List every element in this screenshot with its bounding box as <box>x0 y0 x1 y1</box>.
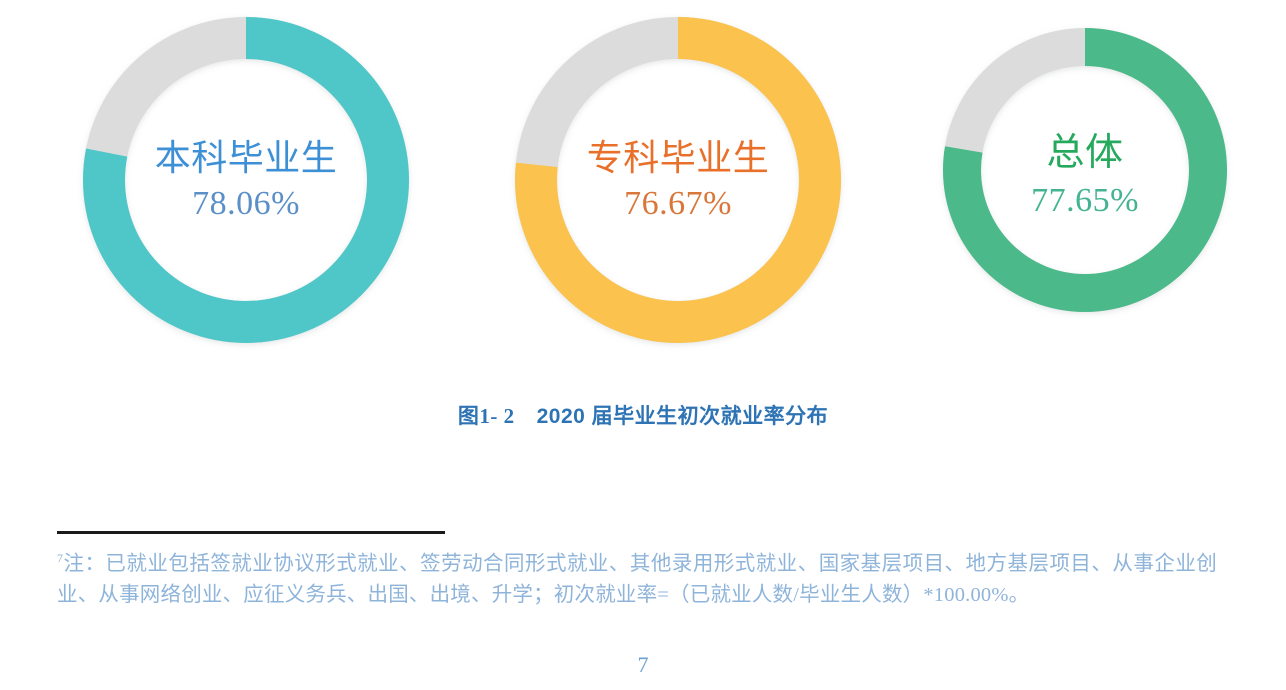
donut-svg-undergraduate <box>70 8 422 352</box>
figure-caption-number: 1- 2 <box>479 404 514 428</box>
donut-chart-undergraduate: 本科毕业生 78.06% <box>70 8 422 352</box>
donut-svg-overall <box>936 20 1234 332</box>
donut-chart-overall: 总体 77.65% <box>936 20 1234 332</box>
footnote-text: 注：已就业包括签就业协议形式就业、签劳动合同形式就业、其他录用形式就业、国家基层… <box>57 553 1217 606</box>
donut-charts-row: 本科毕业生 78.06% 专科毕业生 76.67% <box>0 0 1286 360</box>
page-number: 7 <box>0 652 1286 678</box>
footnote: 7注：已就业包括签就业协议形式就业、签劳动合同形式就业、其他录用形式就业、国家基… <box>57 543 1217 611</box>
figure-caption-prefix: 图 <box>458 405 480 428</box>
figure-caption: 图1- 22020 届毕业生初次就业率分布 <box>0 400 1286 430</box>
footnote-separator <box>57 531 445 534</box>
donut-svg-vocational <box>502 8 854 352</box>
donut-chart-vocational: 专科毕业生 76.67% <box>502 8 854 352</box>
figure-caption-title: 2020 届毕业生初次就业率分布 <box>537 405 829 428</box>
